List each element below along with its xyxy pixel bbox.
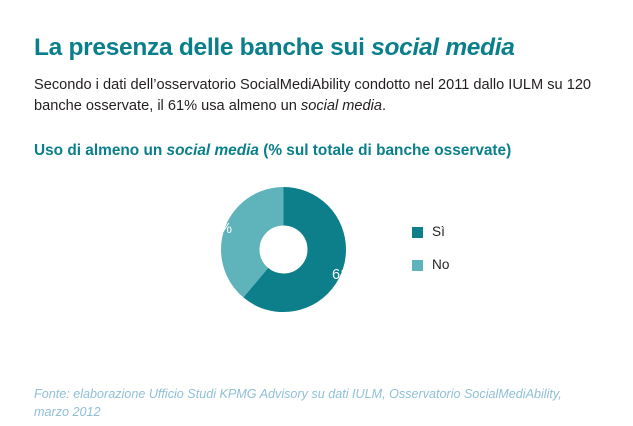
chart-legend: Sì No — [412, 226, 532, 292]
donut-svg — [197, 163, 370, 336]
donut-slice-label-no: 39% — [203, 221, 232, 237]
legend-item-no[interactable]: No — [412, 259, 532, 271]
source-note: Fonte: elaborazione Ufficio Studi KPMG A… — [34, 385, 564, 423]
donut-slices — [240, 206, 327, 293]
page-title-emphasis: social media — [371, 34, 514, 61]
intro-text-emphasis: social media — [301, 98, 382, 114]
donut-graphic — [197, 163, 370, 336]
legend-label-si: Sì — [432, 225, 445, 239]
infographic-page: La presenza delle banche sui social medi… — [0, 0, 633, 426]
page-title: La presenza delle banche sui social medi… — [34, 34, 614, 61]
legend-swatch-no — [412, 260, 423, 271]
donut-chart: 39% 61% Sì No — [0, 150, 633, 350]
legend-label-no: No — [432, 258, 449, 272]
intro-paragraph: Secondo i dati dell’osservatorio SocialM… — [34, 75, 610, 118]
donut-slice-label-si: 61% — [332, 267, 361, 283]
legend-swatch-si — [412, 227, 423, 238]
page-title-text: La presenza delle banche sui — [34, 34, 371, 61]
legend-item-si[interactable]: Sì — [412, 226, 532, 238]
intro-text-tail: . — [382, 98, 386, 114]
